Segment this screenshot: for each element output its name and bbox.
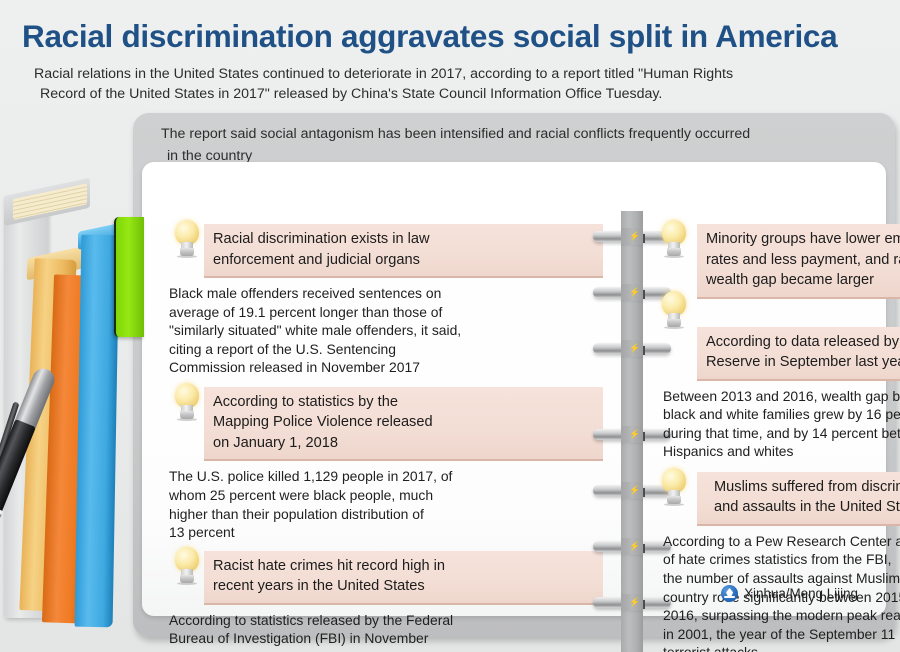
left-column: Racial discrimination exists in law enfo… xyxy=(151,211,621,652)
notebook-page: Racial discrimination exists in law enfo… xyxy=(142,162,886,616)
body-line: According to statistics released by the … xyxy=(169,611,603,630)
body-line: average of 19.1 percent longer than thos… xyxy=(169,303,603,322)
body-line: 2017, a total of 6,121 hate crimes were xyxy=(169,648,603,652)
body-line: According to a Pew Research Center analy… xyxy=(663,532,900,551)
body-line: Between 2013 and 2016, wealth gap betwee… xyxy=(663,387,900,406)
xinhua-logo-icon xyxy=(721,585,738,602)
heading-line: Mapping Police Violence released xyxy=(213,412,594,433)
credit-text: Xinhua/Meng Lijing xyxy=(744,586,858,601)
left-item-2-body: The U.S. police killed 1,129 people in 2… xyxy=(168,461,603,541)
body-line: "similarly situated" white male offender… xyxy=(169,321,603,340)
body-line: in 2001, the year of the September 11 xyxy=(663,625,900,644)
credit: Xinhua/Meng Lijing xyxy=(721,585,858,602)
right-item-2-body: Between 2013 and 2016, wealth gap betwee… xyxy=(655,381,900,461)
left-item-3-heading: Racist hate crimes hit record high in re… xyxy=(204,551,603,605)
body-line: Commission released in November 2017 xyxy=(169,358,603,377)
right-item-3-heading: Muslims suffered from discrimination and… xyxy=(697,472,900,526)
page-subtitle: Racial relations in the United States co… xyxy=(34,64,860,104)
heading-line: Muslims suffered from discrimination xyxy=(706,477,900,498)
body-line: citing a report of the U.S. Sentencing xyxy=(169,340,603,359)
lightbulb-icon xyxy=(172,547,202,585)
body-line: Bureau of Investigation (FBI) in Novembe… xyxy=(169,629,603,648)
heading-line: Racist hate crimes hit record high in xyxy=(213,556,594,577)
lightbulb-icon xyxy=(172,383,202,421)
right-item-2-heading: According to data released by the Federa… xyxy=(697,327,900,381)
heading-line: recent years in the United States xyxy=(213,576,594,597)
body-line: 13 percent xyxy=(169,523,603,542)
body-line: higher than their population distributio… xyxy=(169,505,603,524)
heading-line: Racial discrimination exists in law xyxy=(213,229,594,250)
notebook-headline-line-1: The report said social antagonism has be… xyxy=(161,123,867,145)
heading-line: According to data released by the Federa… xyxy=(706,332,900,353)
notebook-headline: The report said social antagonism has be… xyxy=(161,123,867,167)
left-item-1: Racial discrimination exists in law enfo… xyxy=(168,224,603,377)
right-item-1-heading: Minority groups have lower employment ra… xyxy=(697,224,900,299)
page-title: Racial discrimination aggravates social … xyxy=(22,18,892,55)
body-line: whom 25 percent were black people, much xyxy=(169,486,603,505)
body-line: Black male offenders received sentences … xyxy=(169,284,603,303)
infographic-canvas: Racial discrimination aggravates social … xyxy=(0,0,900,652)
heading-line: Minority groups have lower employment xyxy=(706,229,900,250)
heading-line: enforcement and judicial organs xyxy=(213,250,594,271)
lightbulb-icon xyxy=(172,220,202,258)
tab-green[interactable] xyxy=(114,217,144,337)
right-item-3: Muslims suffered from discrimination and… xyxy=(655,472,900,652)
subtitle-line-1: Racial relations in the United States co… xyxy=(34,64,860,84)
body-line: The U.S. police killed 1,129 people in 2… xyxy=(169,467,603,486)
left-item-1-body: Black male offenders received sentences … xyxy=(168,278,603,377)
left-item-3: Racist hate crimes hit record high in re… xyxy=(168,551,603,652)
spiral-binding: ⚡ ⚡ ⚡ ⚡ ⚡ ⚡ ⚡ xyxy=(621,211,643,652)
lightbulb-icon xyxy=(659,291,689,329)
heading-line: Reserve in September last year xyxy=(706,352,900,373)
heading-line: on January 1, 2018 xyxy=(213,433,594,454)
notebook-panel: The report said social antagonism has be… xyxy=(133,113,895,637)
left-item-2-heading: According to statistics by the Mapping P… xyxy=(204,387,603,462)
body-line: terrorist attacks. xyxy=(663,643,900,652)
subtitle-line-2: Record of the United States in 2017" rel… xyxy=(34,84,860,104)
right-item-2: According to data released by the Federa… xyxy=(655,327,900,461)
body-line: during that time, and by 14 percent betw… xyxy=(663,424,900,443)
lightbulb-icon xyxy=(659,220,689,258)
body-line: of hate crimes statistics from the FBI, xyxy=(663,550,900,569)
left-item-2: According to statistics by the Mapping P… xyxy=(168,387,603,542)
left-item-3-body: According to statistics released by the … xyxy=(168,605,603,652)
right-item-1: Minority groups have lower employment ra… xyxy=(655,224,900,299)
body-line: black and white families grew by 16 perc… xyxy=(663,405,900,424)
heading-line: According to statistics by the xyxy=(213,392,594,413)
body-line: 2016, surpassing the modern peak reached xyxy=(663,606,900,625)
book-blue xyxy=(75,235,120,628)
left-item-1-heading: Racial discrimination exists in law enfo… xyxy=(204,224,603,278)
body-line: Hispanics and whites xyxy=(663,442,900,461)
heading-line: rates and less payment, and racial xyxy=(706,250,900,271)
heading-line: wealth gap became larger xyxy=(706,270,900,291)
heading-line: and assaults in the United States xyxy=(706,497,900,518)
lightbulb-icon xyxy=(659,468,689,506)
